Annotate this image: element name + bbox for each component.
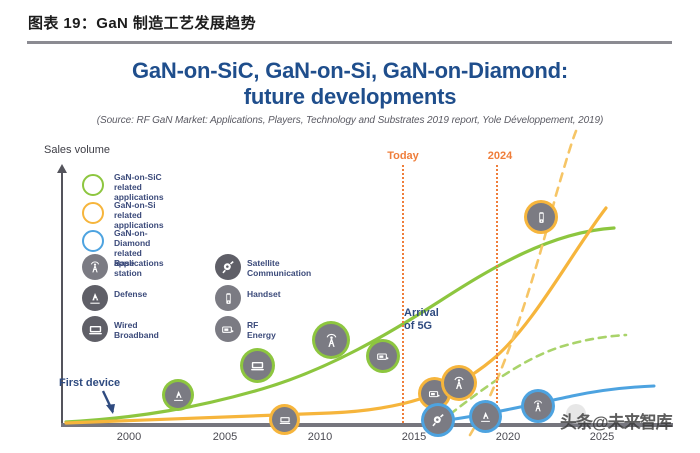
figure-page: 图表 19：GaN 制造工艺发展趋势 GaN-on-SiC, GaN-on-Si… xyxy=(0,0,700,453)
marker-defense-diamond[interactable] xyxy=(472,403,499,430)
handset-icon xyxy=(215,285,241,311)
title-divider xyxy=(27,41,672,44)
base-station-icon xyxy=(530,398,546,414)
annotation-first-device: First device xyxy=(59,377,120,389)
legend-label-handset: Handset xyxy=(247,289,281,299)
marker-defense-sic[interactable] xyxy=(165,382,191,408)
plot-area: Sales volume 2000 2005 2010 2015 2020 20… xyxy=(0,135,700,453)
defense-icon xyxy=(171,388,186,403)
wired-broadband-icon xyxy=(249,357,266,374)
defense-icon xyxy=(478,409,493,424)
marker-rf-energy-sic[interactable] xyxy=(369,342,397,370)
legend-label-base-station: Base station xyxy=(114,258,142,278)
marker-wired-broadband-si[interactable] xyxy=(272,407,297,432)
rf-energy-icon xyxy=(375,348,391,364)
wired-broadband-icon xyxy=(278,413,292,427)
chart-title-line1: GaN-on-SiC, GaN-on-Si, GaN-on-Diamond: xyxy=(132,58,568,83)
base-station-icon xyxy=(322,331,341,350)
legend-label-satellite: Satellite Communication xyxy=(247,258,311,278)
legend-ring-diamond-icon xyxy=(82,230,104,252)
figure-caption: 图表 19：GaN 制造工艺发展趋势 xyxy=(28,12,256,33)
defense-icon xyxy=(82,285,108,311)
marker-satellite-diamond[interactable] xyxy=(424,406,452,434)
satellite-icon xyxy=(215,254,241,280)
chart-title: GaN-on-SiC, GaN-on-Si, GaN-on-Diamond: f… xyxy=(0,58,700,110)
vline-today xyxy=(402,165,404,423)
marker-handset-si[interactable] xyxy=(527,203,555,231)
watermark-text: 头条@未来智库 xyxy=(560,408,672,433)
satellite-icon xyxy=(430,412,446,428)
legend-label-si: GaN-on-Si related applications xyxy=(114,200,164,230)
base-station-icon xyxy=(450,374,468,392)
chart-title-line2: future developments xyxy=(0,84,700,110)
legend-label-wired-broadband: Wired Broadband xyxy=(114,320,159,340)
annotation-arrival-5g: Arrival of 5G xyxy=(404,307,439,333)
vline-today-label: Today xyxy=(387,150,419,162)
marker-base-station-sic[interactable] xyxy=(315,324,347,356)
legend-ring-si-icon xyxy=(82,202,104,224)
base-station-icon xyxy=(82,254,108,280)
handset-icon xyxy=(534,210,549,225)
vline-2024-label: 2024 xyxy=(488,150,512,162)
marker-base-station-si[interactable] xyxy=(444,368,474,398)
marker-base-station-diamond[interactable] xyxy=(524,392,552,420)
legend-label-defense: Defense xyxy=(114,289,147,299)
curve-gan-on-si-projection xyxy=(470,131,576,435)
marker-wired-broadband-sic[interactable] xyxy=(243,351,272,380)
legend-label-sic: GaN-on-SiC related applications xyxy=(114,172,164,202)
first-device-arrowhead xyxy=(106,404,115,414)
chart-source: (Source: RF GaN Market: Applications, Pl… xyxy=(0,115,700,126)
legend-ring-sic-icon xyxy=(82,174,104,196)
wired-broadband-icon xyxy=(82,316,108,342)
rf-energy-icon xyxy=(427,386,442,401)
legend-label-rf-energy: RF Energy xyxy=(247,320,276,340)
rf-energy-icon xyxy=(215,316,241,342)
vline-2024 xyxy=(496,165,498,423)
